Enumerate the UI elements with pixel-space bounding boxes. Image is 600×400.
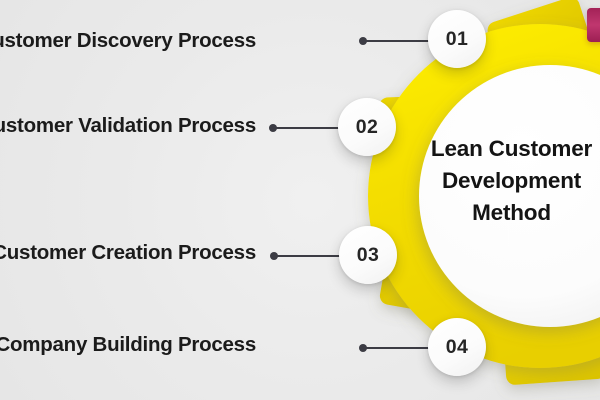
- infographic-canvas: Lean Customer Development Method 01 02 0…: [0, 0, 600, 400]
- step-label-01: Customer Discovery Process: [0, 29, 256, 53]
- step-label-02: Customer Validation Process: [0, 114, 256, 138]
- center-title-line-1: Lean Customer: [404, 133, 600, 165]
- center-title-line-3: Method: [404, 197, 600, 229]
- step-label-04: Company Building Process: [0, 333, 256, 357]
- step-badge-02[interactable]: 02: [338, 98, 396, 156]
- connector-rule-02: [273, 127, 347, 129]
- step-badge-03[interactable]: 03: [339, 226, 397, 284]
- step-badge-01[interactable]: 01: [428, 10, 486, 68]
- magenta-accent-bar: [587, 8, 600, 42]
- step-label-03: Customer Creation Process: [0, 241, 256, 265]
- center-disc-title: Lean Customer Development Method: [404, 133, 600, 229]
- center-title-line-2: Development: [404, 165, 600, 197]
- connector-rule-01: [363, 40, 437, 42]
- step-badge-04[interactable]: 04: [428, 318, 486, 376]
